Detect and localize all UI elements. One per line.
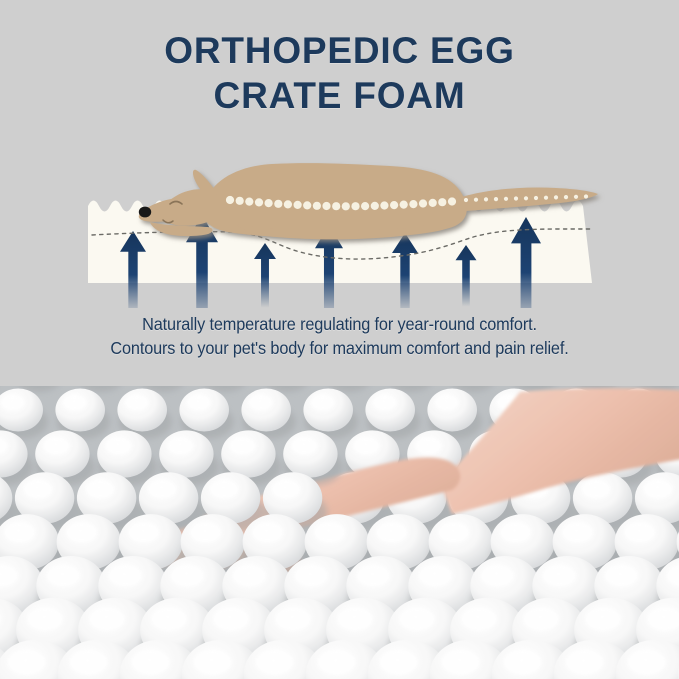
feature-line-1: Naturally temperature regulating for yea… [24,312,655,336]
spine-dot [332,202,340,210]
spine-dot [380,201,388,209]
page-title: ORTHOPEDIC EGG CRATE FOAM [0,28,679,118]
top-info-panel: ORTHOPEDIC EGG CRATE FOAM [0,0,679,386]
tail-dot [494,197,498,201]
spine-dot [265,199,273,207]
title-line-1: ORTHOPEDIC EGG [0,28,679,73]
spine-dot [303,201,311,209]
spine-dot [409,200,417,208]
spine-dot [419,199,427,207]
spine-dot [274,200,282,208]
tail-dot [514,196,518,200]
spine-dot [429,199,437,207]
spine-dot [255,198,263,206]
spine-dot [351,202,359,210]
tail-dot [554,195,558,199]
spine-dot [294,201,302,209]
tail-dot [464,198,468,202]
spine-dot [400,201,408,209]
title-line-2: CRATE FOAM [0,73,679,118]
spine-dot [284,200,292,208]
tail-dot [544,196,548,200]
tail-dot [534,196,538,200]
feature-description: Naturally temperature regulating for yea… [0,312,679,360]
tail-dot [584,194,588,198]
tail-dot [564,195,568,199]
spine-dot [226,196,234,204]
spine-dot [371,202,379,210]
spine-dot [361,202,369,210]
tail-dot [504,197,508,201]
foam-texture-photo [0,386,679,679]
tail-dot [474,198,478,202]
spine-dot [313,202,321,210]
tail-dot [484,197,488,201]
product-infographic: ORTHOPEDIC EGG CRATE FOAM [0,0,679,679]
spine-dot [342,202,350,210]
spine-dot [322,202,330,210]
spine-dot [236,197,244,205]
feature-line-2: Contours to your pet's body for maximum … [24,336,655,360]
tail-dot [574,195,578,199]
spine-dot [245,198,253,206]
tail-dot [524,196,528,200]
spine-dot [390,201,398,209]
foam-support-illustration [0,128,679,308]
dog-nose [139,207,151,218]
spine-dot [448,197,456,205]
spine-dot [438,198,446,206]
